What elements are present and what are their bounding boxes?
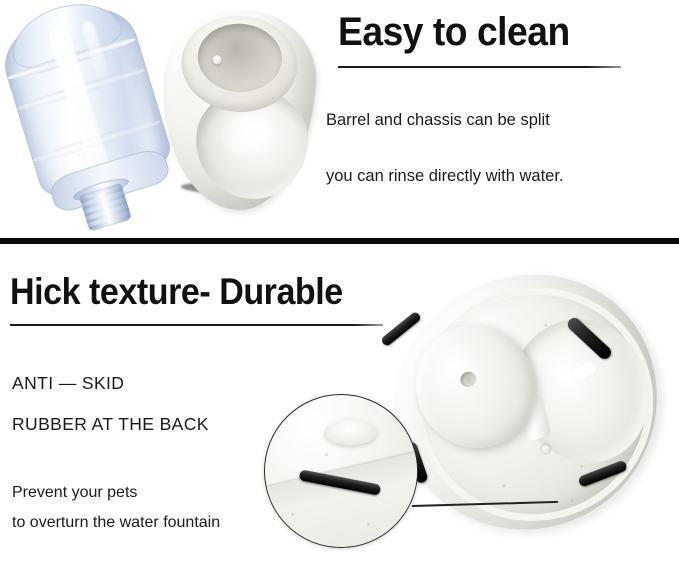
- body-line-rubber-at-back: RUBBER AT THE BACK: [12, 414, 209, 435]
- body-line-barrel-split: Barrel and chassis can be split: [326, 111, 550, 130]
- body-line-prevent-pets: Prevent your pets: [12, 484, 137, 502]
- body-line-rinse-water: you can rinse directly with water.: [326, 167, 564, 186]
- heading-easy-to-clean: Easy to clean: [338, 8, 570, 56]
- body-line-overturn-fountain: to overturn the water fountain: [12, 514, 220, 532]
- photo-chassis-underside: [380, 248, 679, 563]
- infographic-page: Easy to clean Barrel and chassis can be …: [0, 0, 679, 567]
- magnified-rubber-strip-inset: [264, 394, 418, 548]
- body-line-anti-skid: ANTI — SKID: [12, 373, 124, 394]
- inset-surface: [264, 447, 418, 548]
- heading-underline: [338, 66, 621, 68]
- inset-bump-highlight: [339, 426, 361, 434]
- section-thick-texture-durable: Hick texture- Durable ANTI — SKID RUBBER…: [0, 244, 679, 567]
- photo-fountain-disassembled: [2, 2, 320, 234]
- heading-underline: [10, 324, 383, 326]
- chassis-base: [155, 5, 325, 220]
- heading-hick-texture-durable: Hick texture- Durable: [10, 270, 343, 314]
